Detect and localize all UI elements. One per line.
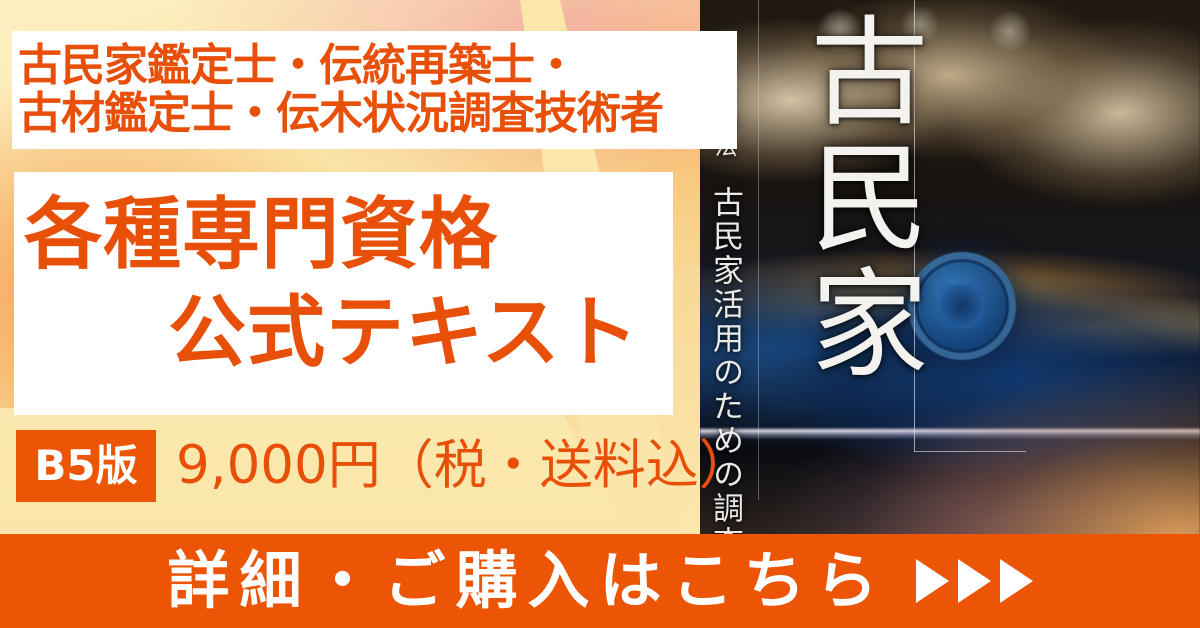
triangle-right-icon xyxy=(916,559,949,603)
subheading-line-1: 古民家鑑定士・伝統再築士・ xyxy=(18,44,577,88)
headline-line-1: 各種専門資格 xyxy=(24,196,498,274)
cover-title-vertical: 古民家 xyxy=(774,10,945,388)
format-badge-label: B5版 xyxy=(34,445,137,487)
triangle-right-icon xyxy=(1000,559,1033,603)
cover-edge-rule xyxy=(758,0,759,500)
headline-line-2: 公式テキスト xyxy=(168,294,640,372)
format-badge: B5版 xyxy=(16,430,156,502)
subheading-line-2: 古材鑑定士・伝木状況調査技術者 xyxy=(18,92,663,136)
price-text: 9,000円（税・送料込） xyxy=(176,437,752,495)
cta-arrow-group xyxy=(916,559,1033,603)
promotional-banner: 古民家 伝統構法 古民家活用のための調査と再生の 古民家鑑定士・伝統再築士・ 古… xyxy=(0,0,1200,628)
cta-bar[interactable]: 詳細・ご購入はこちら xyxy=(0,534,1200,628)
cta-label: 詳細・ご購入はこちら xyxy=(167,550,887,612)
cover-title-rule-bottom xyxy=(914,451,1026,452)
triangle-right-icon xyxy=(958,559,991,603)
